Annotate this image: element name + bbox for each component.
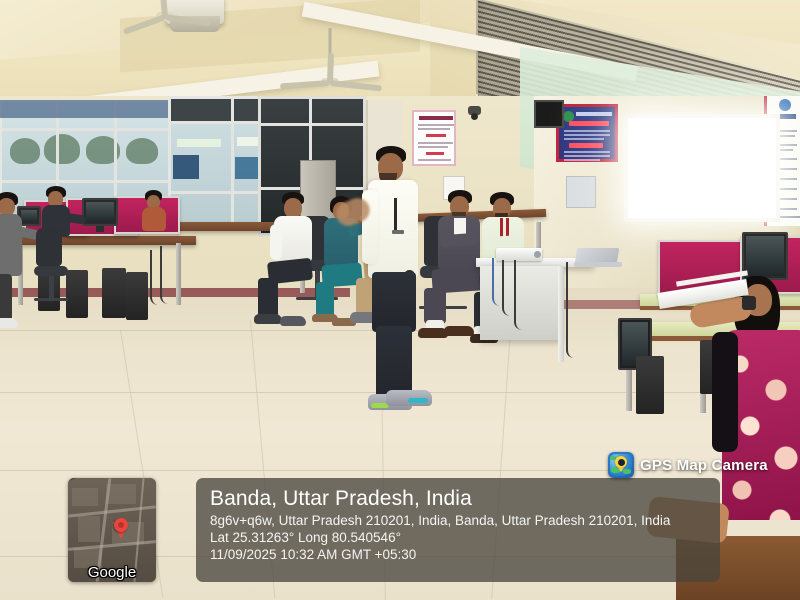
monitor [82, 198, 118, 226]
app-watermark-label: GPS Map Camera [640, 457, 768, 474]
address-line: 8g6v+q6w, Uttar Pradesh 210201, India, B… [210, 512, 720, 529]
gps-map-camera-icon [608, 452, 634, 478]
wall-plaque [566, 176, 596, 208]
projection-screen [628, 118, 776, 218]
cable [160, 246, 178, 304]
table-leg [558, 266, 564, 362]
monitor [742, 232, 788, 280]
location-title: Banda, Uttar Pradesh, India [210, 486, 720, 512]
timestamp-line: 11/09/2025 10:32 AM GMT +05:30 [210, 546, 720, 563]
map-thumbnail[interactable]: Google [68, 478, 156, 582]
pen-in-pocket [392, 230, 404, 234]
computer-tower [66, 270, 88, 318]
wall-display [534, 100, 564, 128]
cctv-camera-icon [468, 106, 481, 115]
lanyard [394, 198, 397, 230]
map-attribution: Google [68, 564, 156, 581]
computer-tower [102, 268, 126, 318]
cable [514, 260, 534, 330]
location-info-panel: Banda, Uttar Pradesh, India 8g6v+q6w, Ut… [196, 478, 720, 582]
wall-banner-strip [0, 100, 172, 118]
computer-tower [126, 272, 148, 320]
dupatta [712, 332, 738, 452]
poster-blue-red [556, 104, 618, 162]
coordinates-line: Lat 25.31263° Long 80.540546° [210, 529, 720, 546]
monitor-stand [96, 226, 104, 232]
app-watermark: GPS Map Camera [608, 450, 768, 480]
cable [566, 262, 598, 358]
projector-lens-icon [534, 251, 541, 258]
wristwatch [742, 296, 756, 310]
poster-white-pink [412, 110, 456, 166]
computer-tower [636, 356, 664, 414]
gps-camera-photo: Google Banda, Uttar Pradesh, India 8g6v+… [0, 0, 800, 600]
gps-overlay: Google Banda, Uttar Pradesh, India 8g6v+… [64, 474, 724, 586]
